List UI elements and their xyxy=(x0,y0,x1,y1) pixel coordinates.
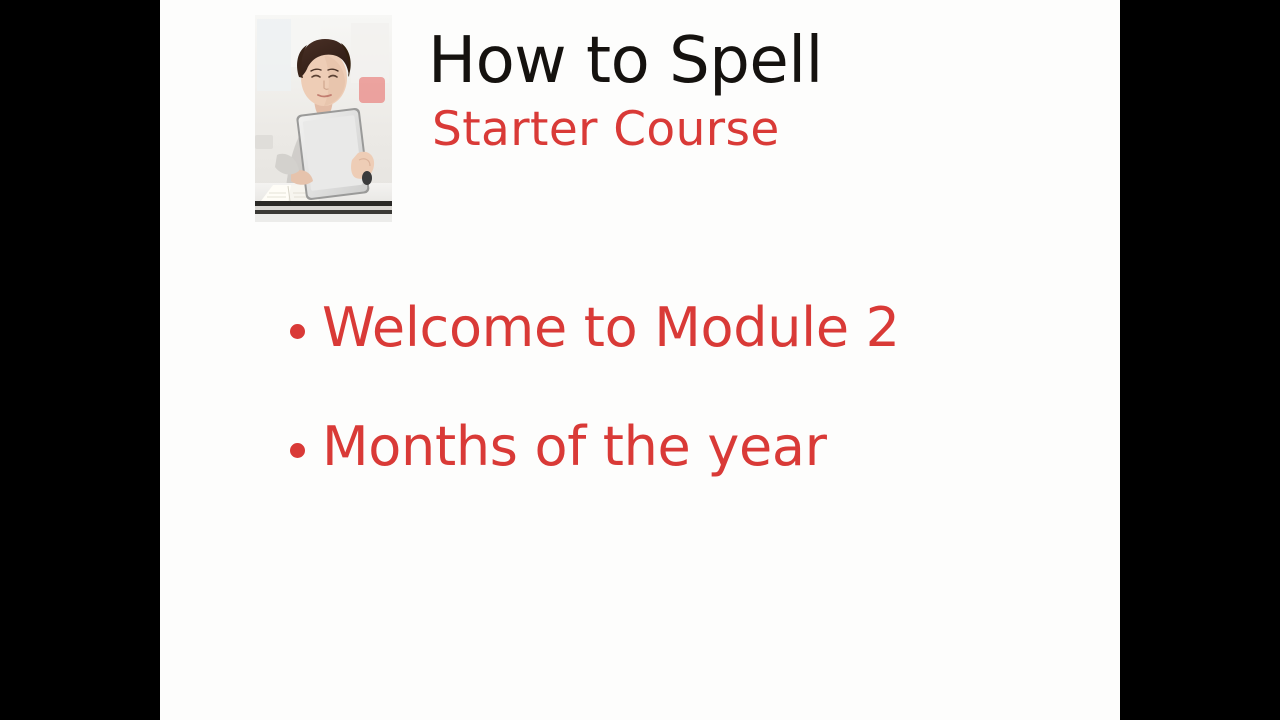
list-item: Welcome to Module 2 xyxy=(290,300,1080,357)
list-item-label: Welcome to Module 2 xyxy=(322,300,900,357)
slide-canvas: How to Spell Starter Course Welcome to M… xyxy=(160,0,1120,720)
list-item-label: Months of the year xyxy=(322,419,827,476)
bullet-dot-icon xyxy=(290,324,305,339)
bullet-dot-icon xyxy=(290,443,305,458)
list-item: Months of the year xyxy=(290,419,1080,476)
bullet-list: Welcome to Module 2 Months of the year xyxy=(290,300,1080,475)
page-subtitle: Starter Course xyxy=(432,105,1048,156)
woman-with-tablet-photo xyxy=(255,15,392,222)
page-title: How to Spell xyxy=(428,28,1048,95)
letterbox-bar-right xyxy=(1120,0,1280,720)
video-frame: How to Spell Starter Course Welcome to M… xyxy=(0,0,1280,720)
title-block: How to Spell Starter Course xyxy=(428,28,1048,155)
letterbox-bar-left xyxy=(0,0,160,720)
